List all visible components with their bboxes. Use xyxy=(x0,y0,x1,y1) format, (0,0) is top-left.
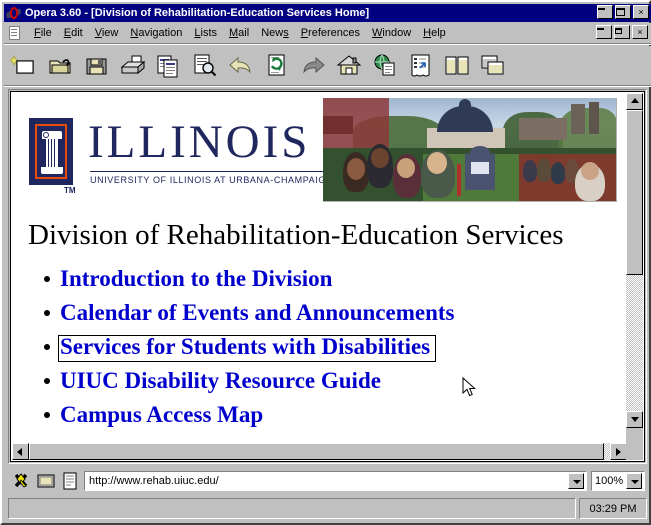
menu-bar: File Edit View Navigation Lists Mail New… xyxy=(4,23,651,43)
document-icon[interactable] xyxy=(9,26,22,41)
address-input[interactable]: http://www.rehab.uiuc.edu/ xyxy=(84,471,587,491)
forward-arrow-icon[interactable] xyxy=(298,51,328,81)
status-clock: 03:29 PM xyxy=(579,498,647,519)
list-item[interactable]: Services for Students with Disabilities xyxy=(38,331,598,363)
screen-icon[interactable] xyxy=(36,471,56,491)
print-preview-icon[interactable] xyxy=(190,51,220,81)
bullet-icon xyxy=(44,276,50,282)
vertical-scrollbar[interactable] xyxy=(626,93,643,445)
bullet-icon xyxy=(44,344,50,350)
reload-icon[interactable] xyxy=(262,51,292,81)
mdi-close-button[interactable]: × xyxy=(632,25,648,39)
trademark-mark: TM xyxy=(64,186,76,195)
maximize-button[interactable] xyxy=(615,5,631,19)
address-bar: http://www.rehab.uiuc.edu/ 100% xyxy=(8,468,647,494)
web-page-content: TM ILLINOIS UNIVERSITY OF ILLINOIS AT UR… xyxy=(12,93,627,445)
menu-item-file[interactable]: File xyxy=(28,26,58,40)
application-window: Opera 3.60 - [Division of Rehabilitation… xyxy=(0,0,651,525)
main-toolbar xyxy=(4,46,651,86)
illinois-wordmark: ILLINOIS xyxy=(88,119,310,166)
history-list-icon[interactable] xyxy=(406,51,436,81)
page-link-list: Introduction to the Division Calendar of… xyxy=(38,263,598,433)
copy-pages-icon[interactable] xyxy=(154,51,184,81)
zoom-value[interactable]: 100% xyxy=(592,475,623,487)
illinois-block-i-icon xyxy=(29,118,73,185)
open-folder-icon[interactable] xyxy=(46,51,76,81)
scroll-down-button[interactable] xyxy=(626,411,643,428)
menu-item-help[interactable]: Help xyxy=(417,26,452,40)
menu-item-preferences[interactable]: Preferences xyxy=(295,26,366,40)
scroll-left-button[interactable] xyxy=(12,443,29,460)
illinois-tagline: UNIVERSITY OF ILLINOIS AT URBANA-CHAMPAI… xyxy=(90,175,333,185)
list-item[interactable]: Introduction to the Division xyxy=(38,263,598,295)
scroll-up-button[interactable] xyxy=(626,93,643,110)
stop-icon[interactable] xyxy=(12,471,32,491)
menu-item-navigation[interactable]: Navigation xyxy=(124,26,188,40)
list-item[interactable]: Calendar of Events and Announcements xyxy=(38,297,598,329)
menu-separator xyxy=(4,43,651,45)
save-floppy-icon[interactable] xyxy=(82,51,112,81)
toolbar-separator xyxy=(4,85,651,87)
campus-banner-image xyxy=(323,98,617,202)
address-input-value[interactable]: http://www.rehab.uiuc.edu/ xyxy=(85,475,219,487)
mdi-restore-button[interactable] xyxy=(614,25,630,39)
bullet-icon xyxy=(44,310,50,316)
menu-item-edit[interactable]: Edit xyxy=(58,26,89,40)
horizontal-scrollbar[interactable] xyxy=(12,443,627,460)
new-window-icon[interactable] xyxy=(10,51,40,81)
menu-item-lists[interactable]: Lists xyxy=(188,26,223,40)
zoom-combo[interactable]: 100% xyxy=(591,471,645,491)
document-icon[interactable] xyxy=(60,471,80,491)
title-bar[interactable]: Opera 3.60 - [Division of Rehabilitation… xyxy=(4,4,651,22)
mdi-window-controls: × xyxy=(596,25,648,39)
list-item[interactable]: Campus Access Map xyxy=(38,399,598,431)
home-icon[interactable] xyxy=(334,51,364,81)
tile-vertical-icon[interactable] xyxy=(442,51,472,81)
status-bar: 03:29 PM xyxy=(8,498,647,519)
scrollbar-corner xyxy=(626,443,643,460)
horizontal-scroll-thumb[interactable] xyxy=(29,443,604,460)
page-header: TM ILLINOIS UNIVERSITY OF ILLINOIS AT UR… xyxy=(12,93,627,211)
menu-item-news[interactable]: News xyxy=(255,26,295,40)
document-frame: TM ILLINOIS UNIVERSITY OF ILLINOIS AT UR… xyxy=(8,89,647,464)
vertical-scroll-thumb[interactable] xyxy=(626,110,643,275)
bullet-icon xyxy=(44,412,50,418)
window-controls: × xyxy=(597,5,649,19)
minimize-button[interactable] xyxy=(597,5,613,19)
link-resource-guide[interactable]: UIUC Disability Resource Guide xyxy=(60,368,381,393)
link-introduction[interactable]: Introduction to the Division xyxy=(60,266,332,291)
cascade-icon[interactable] xyxy=(478,51,508,81)
status-message xyxy=(8,498,576,519)
link-campus-access-map[interactable]: Campus Access Map xyxy=(60,402,263,427)
logo-rule xyxy=(90,171,330,172)
document-viewport: TM ILLINOIS UNIVERSITY OF ILLINOIS AT UR… xyxy=(10,91,645,462)
page-title: Division of Rehabilitation-Education Ser… xyxy=(28,218,564,252)
back-arrow-icon[interactable] xyxy=(226,51,256,81)
link-calendar[interactable]: Calendar of Events and Announcements xyxy=(60,300,454,325)
close-button[interactable]: × xyxy=(633,5,649,19)
menu-item-view[interactable]: View xyxy=(89,26,125,40)
zoom-dropdown-button[interactable] xyxy=(626,473,642,489)
menu-item-window[interactable]: Window xyxy=(366,26,417,40)
opera-logo-icon[interactable] xyxy=(6,6,22,20)
print-icon[interactable] xyxy=(118,51,148,81)
address-dropdown-button[interactable] xyxy=(568,473,584,489)
menu-item-mail[interactable]: Mail xyxy=(223,26,255,40)
mdi-minimize-button[interactable] xyxy=(596,25,612,39)
link-focus-outline xyxy=(58,335,436,362)
list-item[interactable]: UIUC Disability Resource Guide xyxy=(38,365,598,397)
window-title: Opera 3.60 - [Division of Rehabilitation… xyxy=(25,7,369,19)
bullet-icon xyxy=(44,378,50,384)
globe-page-icon[interactable] xyxy=(370,51,400,81)
scroll-right-button[interactable] xyxy=(610,443,627,460)
